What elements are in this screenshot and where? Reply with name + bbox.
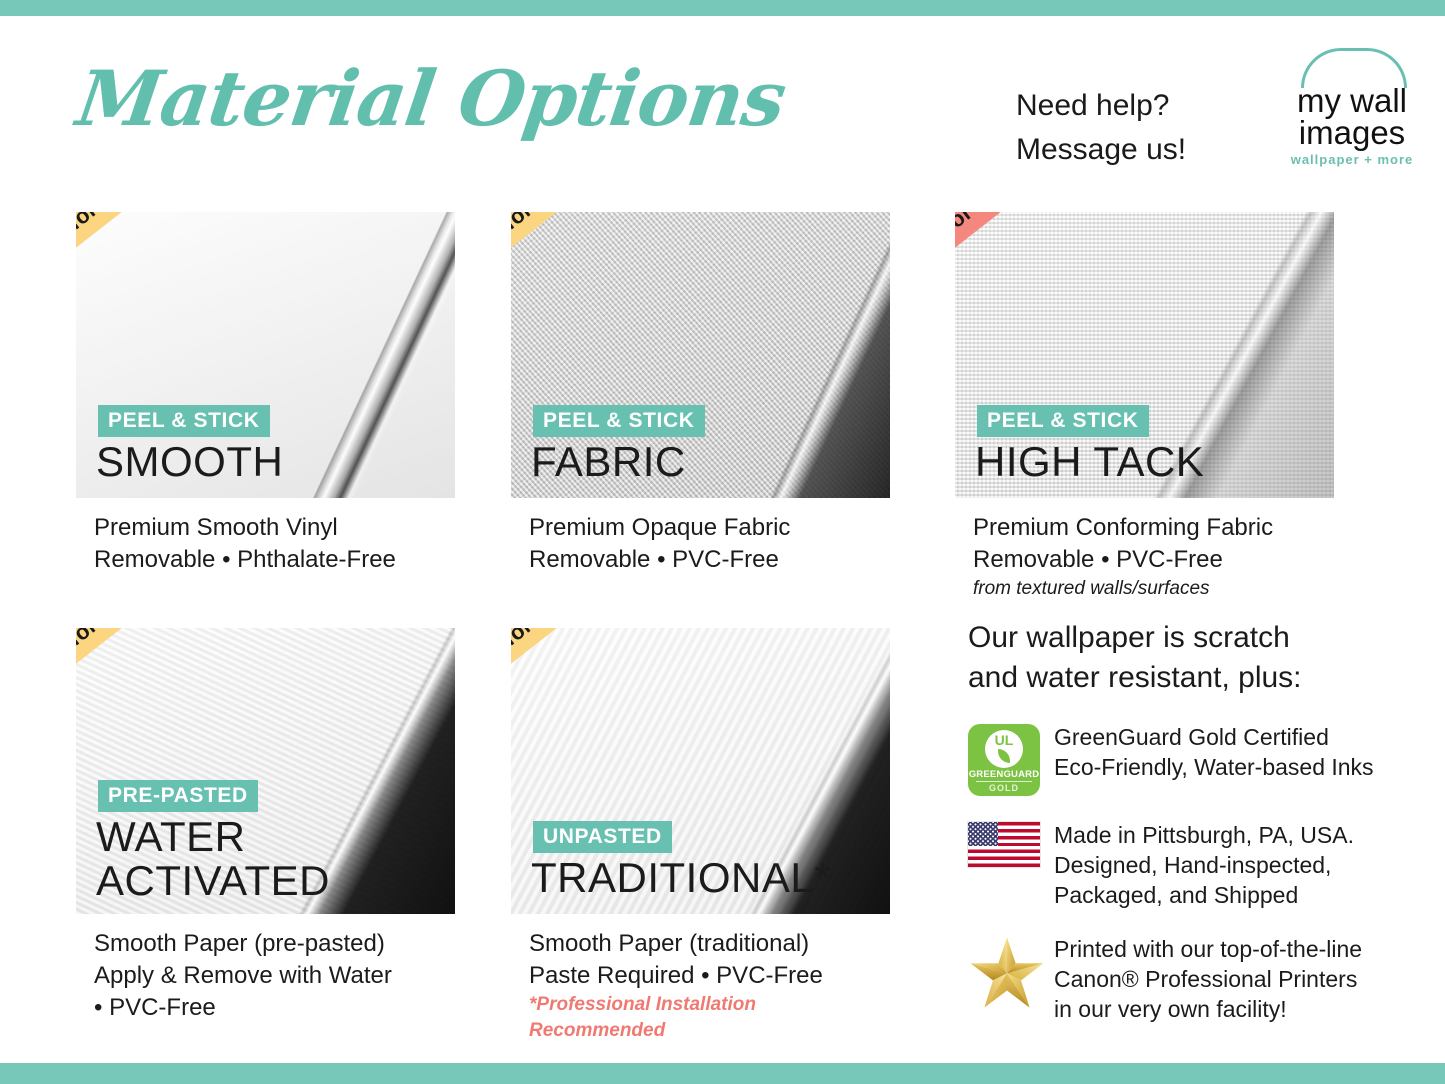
material-card-fabric[interactable]: for Smooth Walls PEEL & STICK FABRIC Pre… [511,212,890,576]
material-description: Smooth Paper (traditional) Paste Require… [511,928,890,992]
logo-line-1: my wall [1277,84,1427,117]
ul-mark-label: UL [985,733,1023,747]
material-name: SMOOTH [96,440,283,484]
gold-star-svg [968,936,1046,1010]
material-card-traditional[interactable]: for Smooth Walls UNPASTED TRADITIONAL* S… [511,628,890,1044]
adhesive-badge: PEEL & STICK [533,405,705,437]
material-photo: for Smooth Walls UNPASTED TRADITIONAL* [511,628,890,914]
adhesive-badge: PEEL & STICK [98,405,270,437]
help-line-1: Need help? [1016,84,1186,128]
wall-type-ribbon: for Smooth Walls [76,628,276,695]
wall-type-ribbon: for Smooth Walls [76,212,276,279]
logo-tagline: wallpaper + more [1277,152,1427,167]
usa-flag-icon [968,818,1054,867]
logo-line-2: images [1277,116,1427,149]
feature-item-made-in-usa: Made in Pittsburgh, PA, USA. Designed, H… [968,818,1408,910]
badge-divider [976,781,1032,782]
greenguard-gold-icon: UL GREENGUARD GOLD [968,720,1054,796]
material-description: Smooth Paper (pre-pasted) Apply & Remove… [76,928,455,1024]
page-header: Material Options Need help? Message us! … [0,16,1445,196]
adhesive-badge: PRE-PASTED [98,780,258,812]
material-name: FABRIC [531,440,686,484]
features-panel: Our wallpaper is scratch and water resis… [968,618,1408,1046]
material-description: Premium Smooth Vinyl Removable • Phthala… [76,512,455,576]
material-description: Premium Conforming Fabric Removable • PV… [955,512,1334,576]
material-name: WATER ACTIVATED [96,815,330,903]
top-accent-bar [0,0,1445,16]
material-photo: for Smooth Walls PRE-PASTED WATER ACTIVA… [76,628,455,914]
material-card-water-activated[interactable]: for Smooth Walls PRE-PASTED WATER ACTIVA… [76,628,455,1024]
material-photo: for Smooth Walls PEEL & STICK FABRIC [511,212,890,498]
brand-logo[interactable]: my wall images wallpaper + more [1277,44,1427,182]
material-photo: for Textured Walls PEEL & STICK HIGH TAC… [955,212,1334,498]
material-note: from textured walls/surfaces [955,576,1334,602]
flag-stars [968,822,998,846]
wall-type-ribbon: for Smooth Walls [511,628,711,695]
material-name: HIGH TACK [975,440,1204,484]
material-card-high-tack[interactable]: for Textured Walls PEEL & STICK HIGH TAC… [955,212,1334,602]
adhesive-badge: UNPASTED [533,821,672,853]
bottom-accent-bar [0,1063,1445,1084]
material-note: *Professional Installation Recommended [511,992,890,1044]
material-photo: for Smooth Walls PEEL & STICK SMOOTH [76,212,455,498]
material-name: TRADITIONAL* [531,856,831,900]
feature-text: Made in Pittsburgh, PA, USA. Designed, H… [1054,818,1354,910]
material-card-smooth[interactable]: for Smooth Walls PEEL & STICK SMOOTH Pre… [76,212,455,576]
feature-text: Printed with our top-of-the-line Canon® … [1054,932,1362,1024]
gold-star-icon [968,932,1054,1010]
wall-type-ribbon: for Smooth Walls [511,212,711,279]
features-heading: Our wallpaper is scratch and water resis… [968,618,1408,698]
help-prompt[interactable]: Need help? Message us! [1016,84,1186,172]
greenguard-label: GREENGUARD [968,769,1040,780]
greenguard-tier-label: GOLD [968,783,1040,793]
help-line-2: Message us! [1016,128,1186,172]
feature-text: GreenGuard Gold Certified Eco-Friendly, … [1054,720,1374,782]
feature-item-greenguard: UL GREENGUARD GOLD GreenGuard Gold Certi… [968,720,1408,796]
wall-type-ribbon: for Textured Walls [955,212,1155,279]
feature-item-canon-printers: Printed with our top-of-the-line Canon® … [968,932,1408,1024]
material-description: Premium Opaque Fabric Removable • PVC-Fr… [511,512,890,576]
adhesive-badge: PEEL & STICK [977,405,1149,437]
page-title: Material Options [72,54,791,143]
